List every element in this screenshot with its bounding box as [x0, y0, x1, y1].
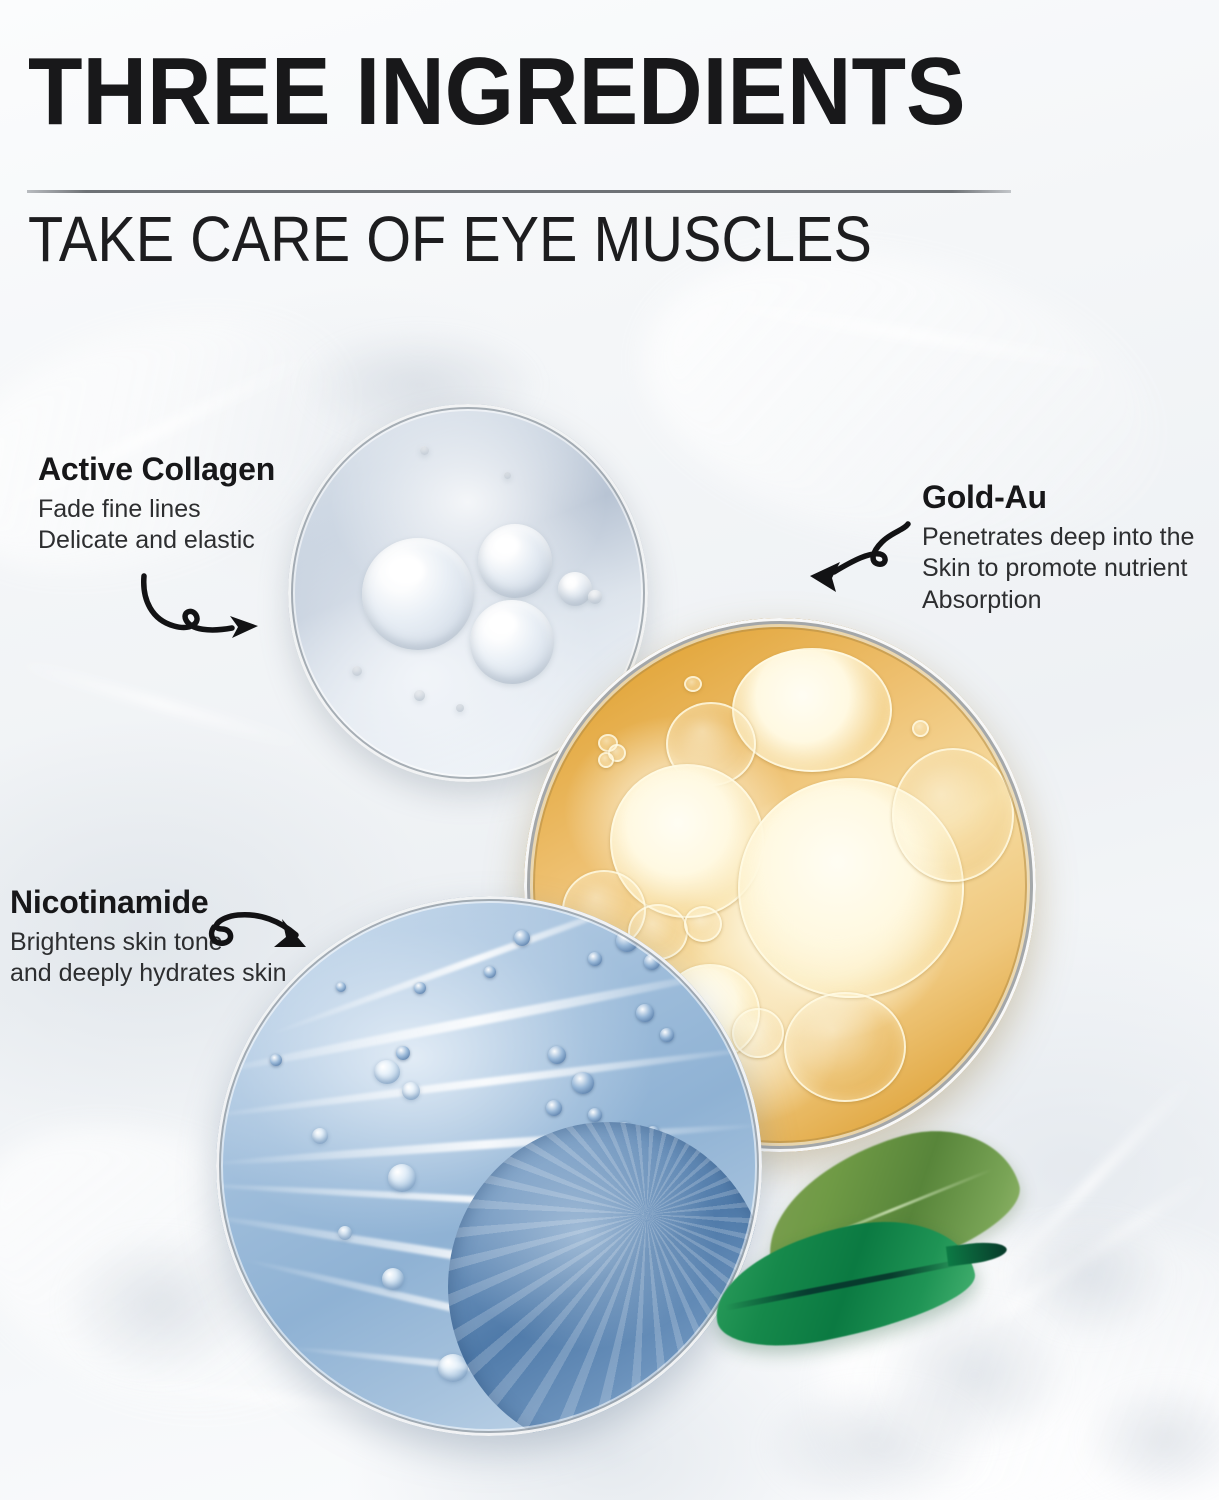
page-title: THREE INGREDIENTS	[28, 44, 967, 140]
ingredient-block-active-collagen: Active Collagen Fade fine lines Delicate…	[38, 452, 275, 557]
ingredient-line: Skin to promote nutrient	[922, 553, 1194, 585]
ingredient-block-nicotinamide: Nicotinamide Brightens skin tone and dee…	[10, 885, 287, 990]
hydration-crescent	[448, 1122, 762, 1436]
curly-arrow-right-icon	[140, 570, 290, 645]
ingredient-title-nicotinamide: Nicotinamide	[10, 885, 287, 921]
page-subtitle: TAKE CARE OF EYE MUSCLES	[28, 206, 937, 273]
ingredient-title-gold-au: Gold-Au	[922, 480, 1194, 516]
ingredient-line: and deeply hydrates skin	[10, 958, 287, 990]
ingredient-line: Delicate and elastic	[38, 525, 275, 557]
curly-arrow-down-left-icon	[788, 520, 913, 605]
infographic-poster: THREE INGREDIENTS TAKE CARE OF EYE MUSCL…	[0, 0, 1219, 1500]
ingredient-line: Fade fine lines	[38, 494, 275, 526]
hydration-dish	[216, 896, 762, 1436]
ingredient-line: Absorption	[922, 585, 1194, 617]
ingredient-line: Brightens skin tone	[10, 927, 287, 959]
ingredient-title-active-collagen: Active Collagen	[38, 452, 275, 488]
title-divider	[27, 190, 1011, 193]
ingredient-block-gold-au: Gold-Au Penetrates deep into the Skin to…	[922, 480, 1194, 616]
ingredient-line: Penetrates deep into the	[922, 522, 1194, 554]
